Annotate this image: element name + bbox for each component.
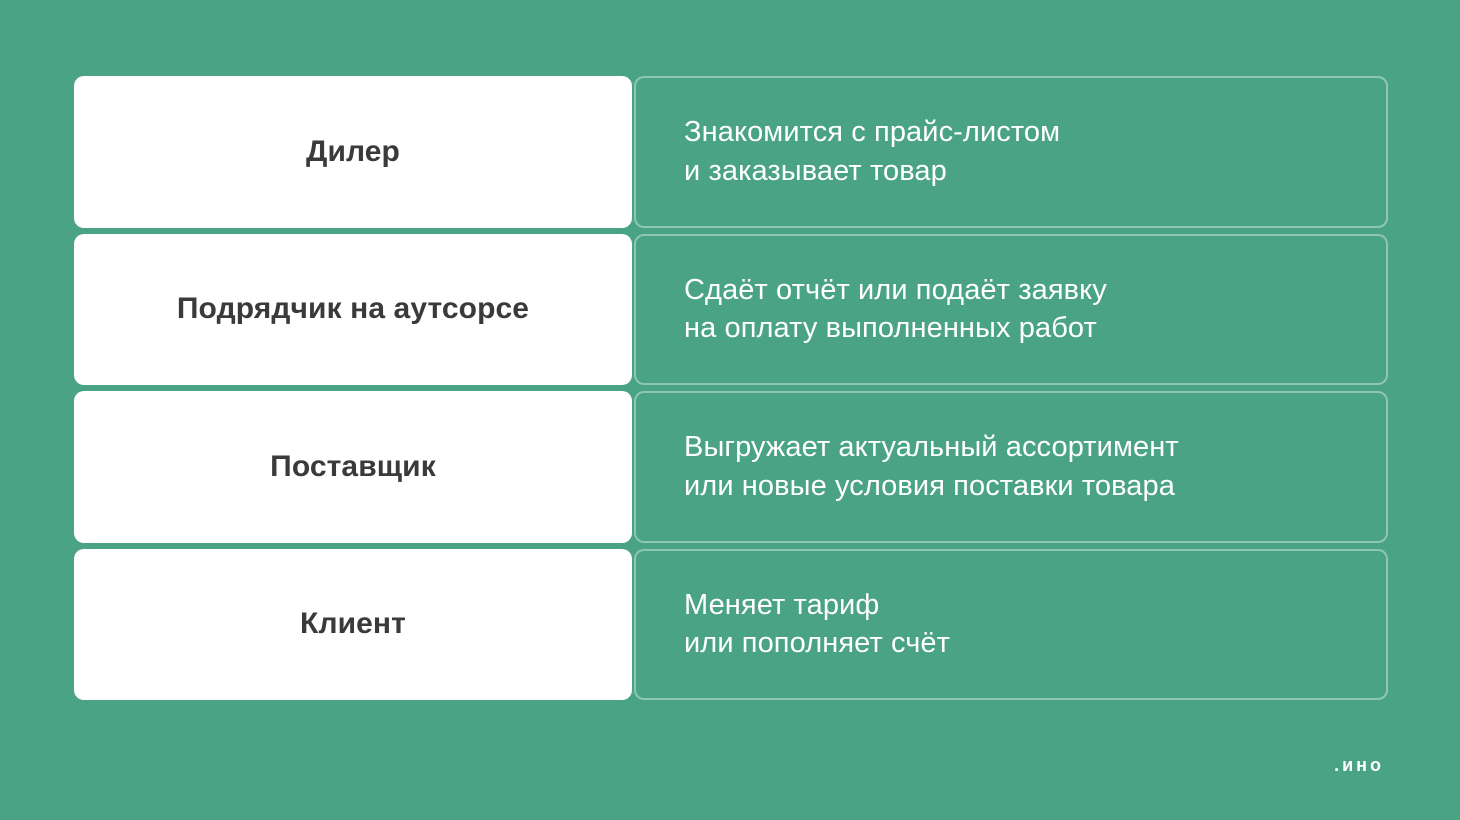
table-row: Поставщик Выгружает актуальный ассортиме… <box>74 391 1388 543</box>
role-label: Дилер <box>306 134 400 170</box>
watermark-logo: .ино <box>1334 756 1384 774</box>
action-line: Сдаёт отчёт или подаёт заявку <box>684 271 1386 309</box>
role-cell-4[interactable]: Клиент <box>74 549 632 701</box>
action-line: Знакомится с прайс-листом <box>684 113 1386 151</box>
table-row: Клиент Меняет тариф или пополняет счёт <box>74 549 1388 701</box>
action-line: Меняет тариф <box>684 586 1386 624</box>
action-cell-4[interactable]: Меняет тариф или пополняет счёт <box>634 549 1388 701</box>
role-cell-2[interactable]: Подрядчик на аутсорсе <box>74 234 632 386</box>
action-line: Выгружает актуальный ассортимент <box>684 428 1386 466</box>
role-label: Поставщик <box>270 449 436 485</box>
role-label: Клиент <box>300 606 406 642</box>
action-line: или пополняет счёт <box>684 624 1386 662</box>
roles-actions-table: Дилер Знакомится с прайс-листом и заказы… <box>74 76 1388 700</box>
action-line: на оплату выполненных работ <box>684 309 1386 347</box>
action-line: или новые условия поставки товара <box>684 467 1386 505</box>
slide-canvas: Дилер Знакомится с прайс-листом и заказы… <box>0 0 1460 820</box>
table-row: Подрядчик на аутсорсе Сдаёт отчёт или по… <box>74 234 1388 386</box>
action-line: и заказывает товар <box>684 152 1386 190</box>
role-cell-3[interactable]: Поставщик <box>74 391 632 543</box>
table-row: Дилер Знакомится с прайс-листом и заказы… <box>74 76 1388 228</box>
action-cell-2[interactable]: Сдаёт отчёт или подаёт заявку на оплату … <box>634 234 1388 386</box>
action-cell-3[interactable]: Выгружает актуальный ассортимент или нов… <box>634 391 1388 543</box>
action-cell-1[interactable]: Знакомится с прайс-листом и заказывает т… <box>634 76 1388 228</box>
role-cell-1[interactable]: Дилер <box>74 76 632 228</box>
role-label: Подрядчик на аутсорсе <box>177 291 529 327</box>
